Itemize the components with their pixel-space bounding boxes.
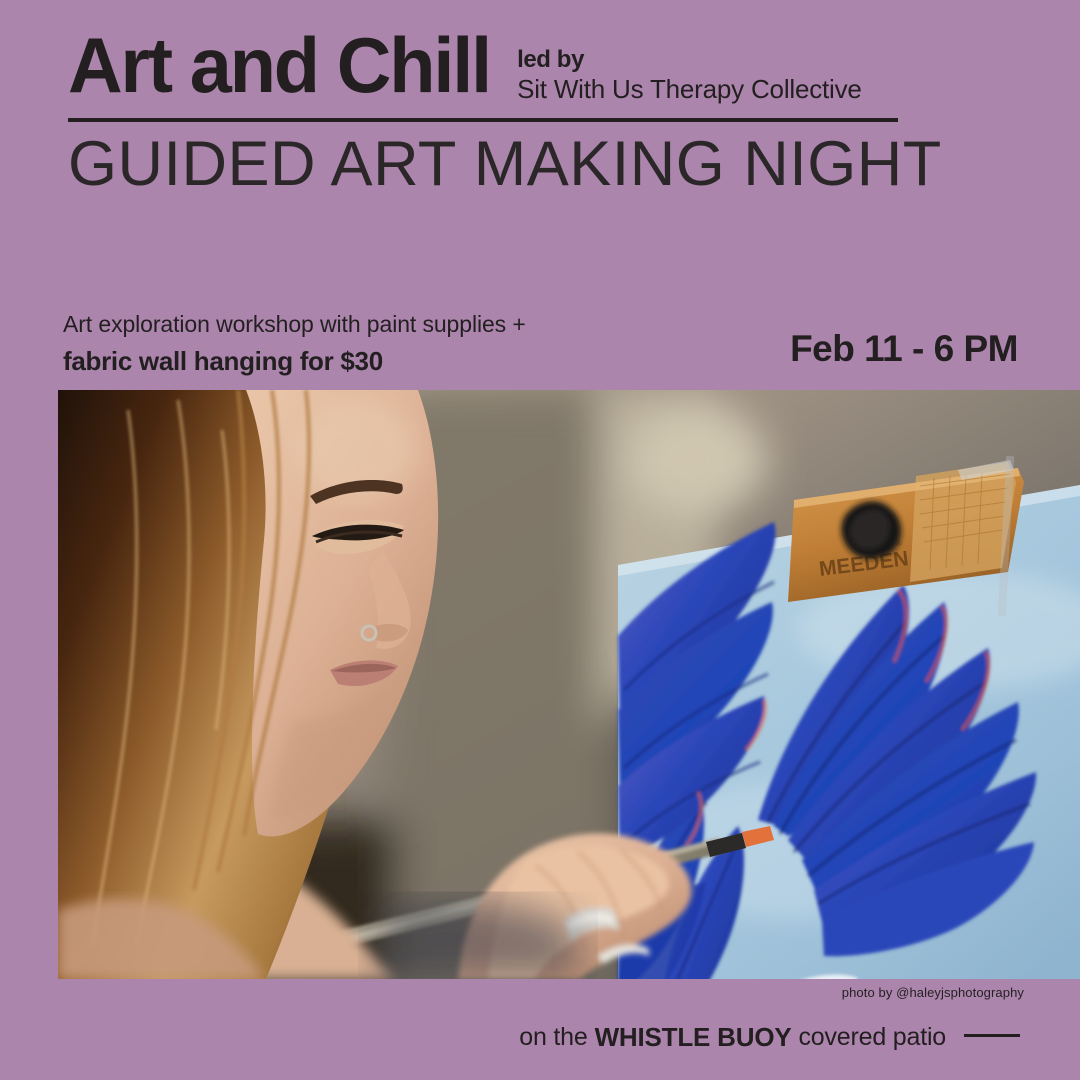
event-date-time: Feb 11 - 6 PM — [790, 328, 1018, 370]
description-line-2: fabric wall hanging for $30 — [63, 343, 526, 379]
venue-name: WHISTLE BUOY — [595, 1022, 792, 1053]
poster-footer: on the WHISTLE BUOY covered patio — [0, 1022, 1080, 1053]
description-line-1: Art exploration workshop with paint supp… — [63, 308, 526, 341]
footer-suffix: covered patio — [799, 1023, 947, 1052]
photo-illustration: MEEDEN ® — [58, 390, 1080, 979]
event-photo: MEEDEN ® — [58, 390, 1080, 979]
footer-rule — [964, 1034, 1020, 1037]
photo-credit: photo by @haleyjsphotography — [842, 985, 1024, 1000]
poster-header: Art and Chill led by Sit With Us Therapy… — [68, 30, 1012, 105]
footer-prefix: on the — [519, 1023, 587, 1052]
header-divider — [68, 118, 898, 122]
led-by-block: led by Sit With Us Therapy Collective — [517, 46, 862, 105]
organization-name: Sit With Us Therapy Collective — [517, 74, 862, 105]
event-description: Art exploration workshop with paint supp… — [63, 308, 526, 380]
event-poster: Art and Chill led by Sit With Us Therapy… — [0, 0, 1080, 1080]
page-title: Art and Chill — [68, 30, 490, 102]
led-by-label: led by — [517, 46, 862, 74]
page-subtitle: GUIDED ART MAKING NIGHT — [68, 128, 1018, 200]
